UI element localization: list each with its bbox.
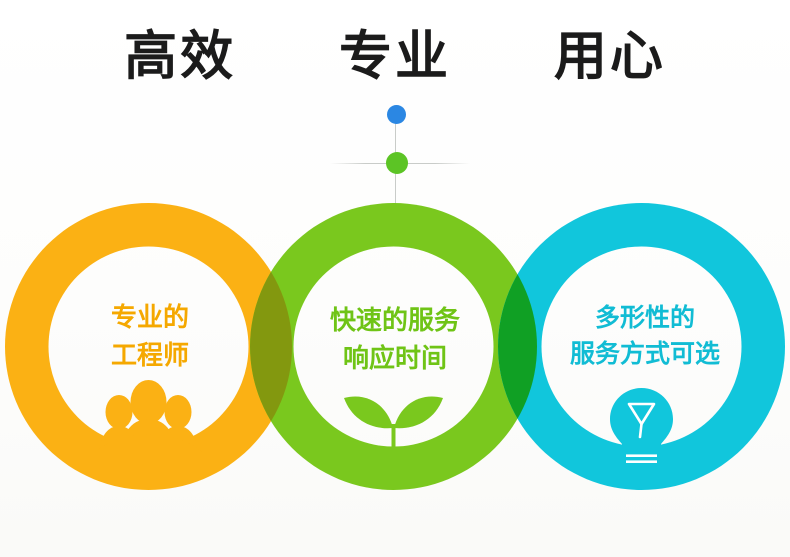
poster-canvas: 高效 专业 用心 — [0, 0, 790, 557]
venn-rings-graphic — [0, 0, 790, 557]
